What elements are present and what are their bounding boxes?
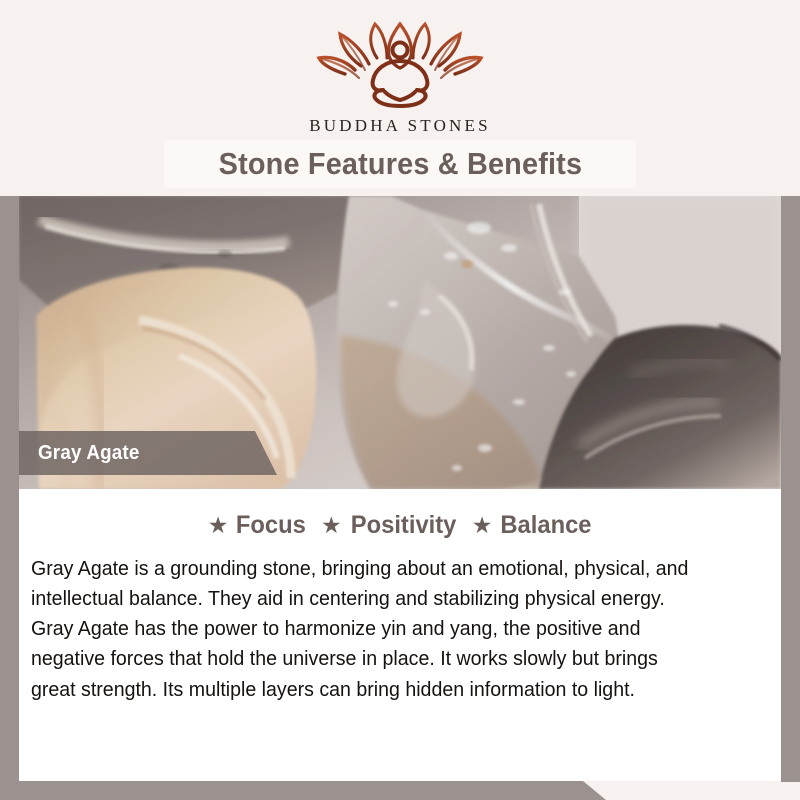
stone-name-label: Gray Agate (19, 431, 277, 475)
brand-name: BUDDHA STONES (0, 116, 800, 136)
description-line: great strength. Its multiple layers can … (31, 675, 734, 705)
benefits-list: ★Focus ★Positivity ★Balance (19, 489, 781, 540)
corner-band-bottom (0, 781, 606, 800)
description-line: Gray Agate has the power to harmonize yi… (31, 614, 734, 644)
brand-logo: BUDDHA STONES (0, 18, 800, 136)
page-title: Stone Features & Benefits (218, 146, 582, 182)
benefit-keyword-focus: Focus (236, 511, 306, 540)
star-icon: ★ (321, 512, 342, 538)
title-banner: Stone Features & Benefits (164, 140, 636, 188)
benefit-keyword-positivity: Positivity (350, 511, 456, 540)
star-icon: ★ (208, 512, 229, 538)
star-icon: ★ (472, 512, 493, 538)
stone-description: Gray Agate is a grounding stone, bringin… (31, 554, 767, 705)
description-line: Gray Agate is a grounding stone, bringin… (31, 554, 734, 584)
content-panel: ★Focus ★Positivity ★Balance Gray Agate i… (19, 489, 781, 781)
stone-info-card: BUDDHA STONES Stone Features & Benefits (0, 0, 800, 800)
lotus-meditation-figure-icon (305, 18, 495, 114)
stone-name-text: Gray Agate (38, 442, 139, 465)
description-line: negative forces that hold the universe i… (31, 644, 734, 674)
stone-photo: Gray Agate (19, 196, 781, 489)
benefit-keyword-balance: Balance (501, 511, 592, 540)
description-line: intellectual balance. They aid in center… (31, 584, 734, 614)
